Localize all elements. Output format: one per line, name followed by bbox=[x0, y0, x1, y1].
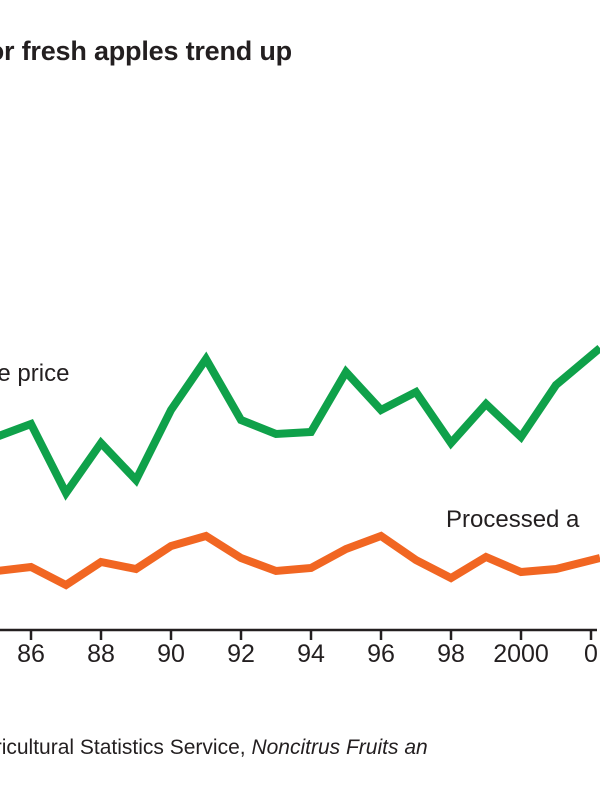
x-tick-label: 98 bbox=[437, 641, 465, 669]
x-tick-label: 90 bbox=[157, 641, 185, 669]
source-note-prefix: al Agricultural Statistics Service, bbox=[0, 736, 251, 759]
x-tick-label: 96 bbox=[367, 641, 395, 669]
chart-svg bbox=[0, 0, 600, 680]
source-note-publication: Noncitrus Fruits an bbox=[251, 736, 427, 759]
x-tick-label: 92 bbox=[227, 641, 255, 669]
source-note: al Agricultural Statistics Service, Nonc… bbox=[0, 735, 600, 760]
x-tick-label: 86 bbox=[17, 641, 45, 669]
series-line-processed-apple-price bbox=[0, 536, 600, 585]
x-tick-label: 88 bbox=[87, 641, 115, 669]
x-axis-tick-labels: 86 88 90 92 94 96 98 2000 0 bbox=[0, 641, 600, 681]
x-tick-label: 94 bbox=[297, 641, 325, 669]
plot-area bbox=[0, 0, 600, 680]
x-tick-label: 0 bbox=[584, 641, 598, 669]
series-label-processed-apple-price: Processed a bbox=[446, 508, 579, 532]
x-axis-ticks bbox=[31, 630, 591, 640]
series-label-fresh-apple-price: apple price bbox=[0, 362, 69, 386]
x-tick-label: 2000 bbox=[493, 641, 549, 669]
series-line-fresh-apple-price bbox=[0, 348, 600, 493]
chart-figure: es for fresh apples trend up apple price… bbox=[0, 0, 600, 800]
